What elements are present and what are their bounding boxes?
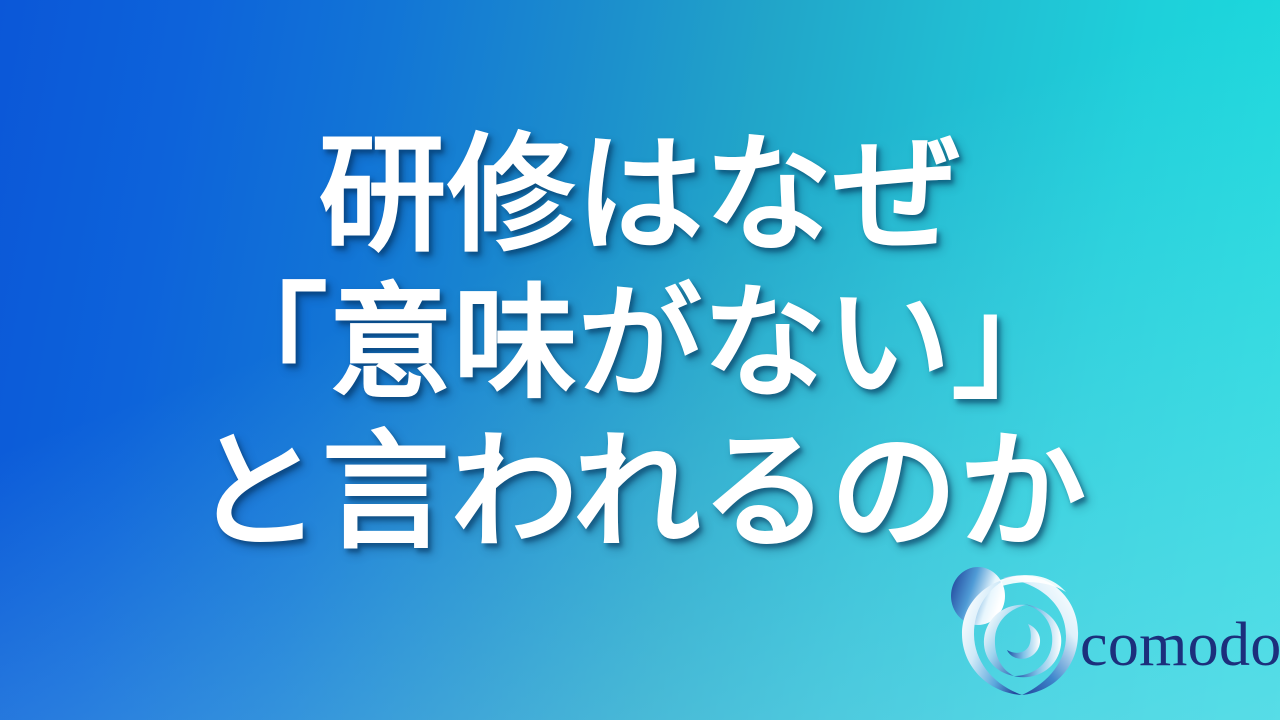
- title-line-1: 研修はなぜ: [0, 120, 1280, 271]
- comodo-logo: comodo: [940, 552, 1240, 704]
- slide-title: 研修はなぜ 「意味がない」 と言われるのか: [0, 120, 1280, 568]
- title-line-3: と言われるのか: [0, 417, 1280, 568]
- comodo-spiral-swirl-icon: [940, 552, 1092, 704]
- title-slide: 研修はなぜ 「意味がない」 と言われるのか: [0, 0, 1280, 720]
- comodo-wordmark: comodo: [1080, 614, 1280, 676]
- title-line-2: 「意味がない」: [0, 271, 1280, 417]
